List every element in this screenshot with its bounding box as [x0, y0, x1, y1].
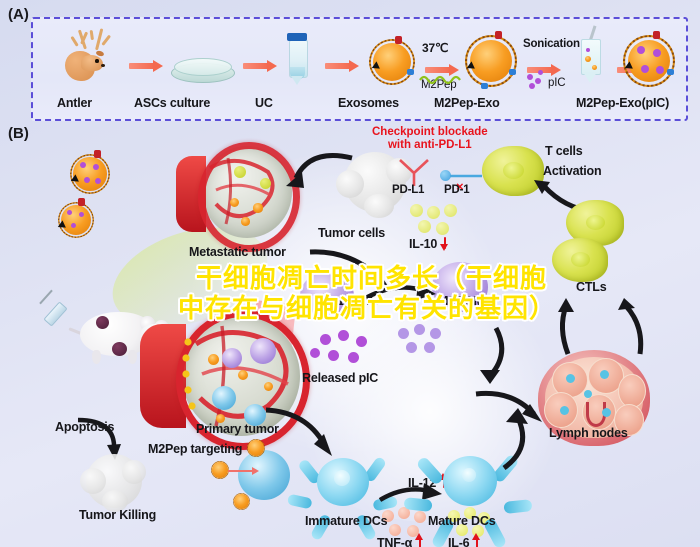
antler-deer-illustration	[51, 27, 121, 89]
exosome-particle	[367, 37, 417, 87]
checkpoint-line-1: Checkpoint blockade	[372, 126, 488, 138]
step-label-exosomes: Exosomes	[338, 96, 399, 110]
pic-label: pIC	[548, 77, 565, 89]
arrow-antler-to-culture	[129, 61, 163, 70]
il-10-text: IL-10	[409, 237, 437, 251]
label-t-cells: T cells	[545, 144, 583, 158]
label-il-6: IL-6	[448, 534, 481, 547]
checkpoint-blockade-annotation: Checkpoint blockade with anti-PD-L1	[372, 126, 488, 152]
targeting-exosome	[232, 492, 251, 511]
metastatic-tumor-illustration	[176, 138, 296, 250]
panel-a-workflow: 37℃ M2Pep Sonication pIC	[31, 17, 688, 121]
label-m2-tams: M2 TAMs	[438, 294, 491, 308]
label-activation: Activation	[543, 164, 601, 178]
label-m2pep-targeting: M2Pep targeting	[148, 442, 242, 456]
checkpoint-line-2: with anti-PD-L1	[388, 139, 472, 151]
arrow-il12-up	[456, 318, 518, 384]
step-label-m2pep-exo-pic: M2Pep-Exo(pIC)	[576, 96, 669, 110]
immature-dc-illustration	[300, 440, 386, 522]
arrow-dc-to-lymph	[488, 408, 544, 474]
label-metastatic-tumor: Metastatic tumor	[189, 245, 286, 259]
injected-exosome-particle	[56, 200, 96, 240]
il-6-up-arrow-icon	[472, 534, 481, 547]
m2pep-exo-pic-particle	[621, 33, 677, 89]
panel-b-mechanism: Metastatic tumor Primary tumor	[0, 122, 700, 547]
il-10-down-arrow-icon	[440, 235, 449, 250]
sonication-label: Sonication	[523, 38, 580, 50]
il-6-text: IL-6	[448, 536, 469, 547]
tnf-alpha-up-arrow-icon	[415, 534, 424, 547]
step-label-uc: UC	[255, 96, 273, 110]
label-tumor-cells: Tumor cells	[318, 226, 385, 240]
step-label-ascs-culture: ASCs culture	[134, 96, 210, 110]
label-immature-dcs: Immature DCs	[305, 514, 387, 528]
injected-exosome-particle	[68, 152, 112, 196]
arrow-to-ctls-left	[548, 298, 608, 358]
arrow-tumor-to-metastatic	[280, 150, 356, 198]
label-ctls: CTLs	[576, 280, 606, 294]
tnf-alpha-text: TNF-α	[377, 536, 412, 547]
label-lymph-nodes: Lymph nodes	[549, 426, 628, 440]
m2pep-squiggle-icon	[419, 73, 461, 85]
temperature-label: 37℃	[422, 41, 448, 55]
m2pep-exosome-particle	[463, 33, 519, 89]
arrow-uc-to-exosomes	[325, 61, 359, 70]
tumor-vasculature-icon	[176, 138, 296, 250]
arrow-culture-to-uc	[243, 61, 277, 70]
label-tumor-killing: Tumor Killing	[79, 508, 156, 522]
label-released-pic: Released pIC	[302, 371, 378, 385]
label-mature-dcs: Mature DCs	[428, 514, 495, 528]
label-pd-l1: PD-L1	[392, 184, 424, 196]
label-il-10: IL-10	[409, 235, 449, 251]
step-label-antler: Antler	[57, 96, 92, 110]
scientific-figure: (A)	[0, 0, 700, 547]
label-pd-1: PD-1	[444, 184, 469, 196]
ctl-cell-illustration	[552, 238, 608, 282]
dead-tumor-cell-illustration	[78, 448, 152, 514]
step-label-m2pep-exo: M2Pep-Exo	[434, 96, 500, 110]
targeting-arrow-icon	[226, 462, 266, 480]
arrow-to-ctls-right	[606, 298, 666, 358]
arrow-sonication	[527, 65, 561, 74]
arrow-tam-polarization	[358, 278, 444, 312]
label-tnf-alpha: TNF-α	[377, 534, 424, 547]
panel-a-tag: (A)	[8, 6, 29, 23]
petri-dish-illustration	[171, 57, 233, 83]
